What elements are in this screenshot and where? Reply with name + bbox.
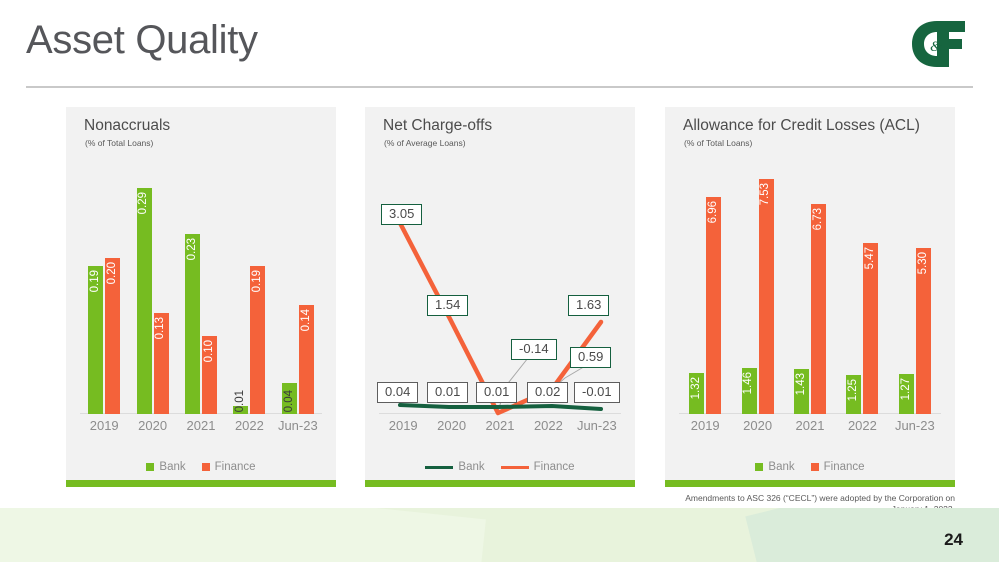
chart-panel-nonaccruals: Nonaccruals (% of Total Loans) 0.19 0.20… [66, 107, 336, 487]
bar-groups-acl: 1.32 6.96 1.46 7.53 1.43 6.73 [679, 164, 941, 414]
chart-title-acl: Allowance for Credit Losses (ACL) [683, 117, 920, 135]
bar-finance: 6.73 [811, 204, 826, 414]
chart-panel-acl: Allowance for Credit Losses (ACL) (% of … [665, 107, 955, 487]
legend-label-finance: Finance [215, 461, 256, 473]
legend-item-finance: Finance [811, 461, 865, 473]
legend-swatch-finance-icon [811, 463, 819, 471]
bar-finance: 0.13 [154, 313, 169, 415]
bar-value: 0.23 [187, 234, 199, 260]
bar-bank: 1.46 [742, 368, 757, 414]
legend-item-bank: Bank [755, 461, 794, 473]
bar-value: 5.30 [918, 248, 930, 274]
x-tick-label: Jun-23 [889, 418, 941, 440]
bar-value: 0.19 [252, 266, 264, 292]
header-divider [26, 86, 973, 88]
x-axis-labels-nonaccruals: 2019 2020 2021 2022 Jun-23 [80, 418, 322, 440]
x-tick-label: 2022 [524, 418, 572, 440]
data-label-finance-2022: 0.59 [570, 347, 611, 368]
legend-nonaccruals: Bank Finance [66, 461, 336, 473]
panel-accent-bar [365, 480, 635, 487]
legend-label-bank: Bank [458, 461, 484, 473]
bar-value: 0.29 [138, 188, 150, 214]
x-axis-labels-net-charge-offs: 2019 2020 2021 2022 Jun-23 [379, 418, 621, 440]
bar-value: 0.10 [204, 336, 216, 362]
legend-item-finance: Finance [202, 461, 256, 473]
chart-title-net-charge-offs: Net Charge-offs [383, 117, 492, 135]
panel-accent-bar [665, 480, 955, 487]
bar-value: 1.32 [691, 373, 703, 399]
legend-line-bank-icon [425, 466, 453, 469]
legend-swatch-bank-icon [755, 463, 763, 471]
bar-value: 0.13 [155, 313, 167, 339]
legend-label-finance: Finance [824, 461, 865, 473]
legend-label-bank: Bank [768, 461, 794, 473]
plot-area-net-charge-offs: 3.05 1.54 -0.14 0.59 1.63 0.04 0.01 0.01… [365, 162, 635, 462]
bar-value: 0.04 [284, 386, 296, 412]
x-tick-label: 2021 [784, 418, 836, 440]
x-tick-label: 2019 [379, 418, 427, 440]
cf-logo: & [907, 18, 969, 70]
bar-value: 1.27 [901, 374, 913, 400]
data-label-finance-jun23: 1.63 [568, 295, 609, 316]
bar-bank: 0.29 [137, 188, 152, 415]
bar-value: 6.96 [708, 197, 720, 223]
data-label-finance-2020: 1.54 [427, 295, 468, 316]
bar-finance: 0.10 [202, 336, 217, 414]
x-tick-label: 2021 [476, 418, 524, 440]
bar-group: 1.25 5.47 [836, 164, 888, 414]
footer-wedge-left [0, 508, 486, 562]
bar-value: 7.53 [760, 179, 772, 205]
bar-bank: 0.01 [233, 406, 248, 414]
x-tick-label: Jun-23 [274, 418, 322, 440]
legend-swatch-bank-icon [146, 463, 154, 471]
bar-value: 6.73 [813, 204, 825, 230]
legend-swatch-finance-icon [202, 463, 210, 471]
chart-subtitle-acl: (% of Total Loans) [684, 138, 752, 148]
legend-acl: Bank Finance [665, 461, 955, 473]
legend-item-finance: Finance [501, 461, 575, 473]
legend-item-bank: Bank [425, 461, 484, 473]
bar-group: 1.32 6.96 [679, 164, 731, 414]
x-tick-label: 2022 [836, 418, 888, 440]
x-tick-label: Jun-23 [573, 418, 621, 440]
bar-bank: 0.04 [282, 383, 297, 414]
x-tick-label: 2019 [679, 418, 731, 440]
bar-group: 1.46 7.53 [731, 164, 783, 414]
chart-panel-net-charge-offs: Net Charge-offs (% of Average Loans) 3.0… [365, 107, 635, 487]
bar-group: 1.43 6.73 [784, 164, 836, 414]
line-bank [400, 405, 601, 409]
x-tick-label: 2022 [225, 418, 273, 440]
bar-bank: 1.32 [689, 373, 704, 414]
bar-bank: 0.23 [185, 234, 200, 414]
bar-group: 0.04 0.14 [274, 164, 322, 414]
chart-subtitle-net-charge-offs: (% of Average Loans) [384, 138, 466, 148]
bar-value: 0.20 [107, 258, 119, 284]
chart-subtitle-nonaccruals: (% of Total Loans) [85, 138, 153, 148]
x-tick-label: 2020 [427, 418, 475, 440]
legend-label-bank: Bank [159, 461, 185, 473]
bar-finance: 5.47 [863, 243, 878, 414]
bar-bank: 1.25 [846, 375, 861, 414]
bar-finance: 0.19 [250, 266, 265, 415]
bar-finance: 7.53 [759, 179, 774, 414]
svg-text:&: & [930, 39, 942, 55]
x-axis-labels-acl: 2019 2020 2021 2022 Jun-23 [679, 418, 941, 440]
x-tick-label: 2020 [128, 418, 176, 440]
data-label-finance-2019: 3.05 [381, 204, 422, 225]
plot-area-acl: 1.32 6.96 1.46 7.53 1.43 6.73 [665, 162, 955, 462]
legend-net-charge-offs: Bank Finance [365, 461, 635, 473]
bar-group: 0.19 0.20 [80, 164, 128, 414]
bar-finance: 5.30 [916, 248, 931, 414]
x-tick-label: 2021 [177, 418, 225, 440]
bar-bank: 1.27 [899, 374, 914, 414]
bar-value: 1.25 [848, 375, 860, 401]
plot-area-nonaccruals: 0.19 0.20 0.29 0.13 0.23 0.10 [66, 162, 336, 462]
chart-title-nonaccruals: Nonaccruals [84, 117, 170, 135]
legend-line-finance-icon [501, 466, 529, 469]
x-tick-label: 2019 [80, 418, 128, 440]
bar-bank: 1.43 [794, 369, 809, 414]
bar-group: 0.23 0.10 [177, 164, 225, 414]
bar-finance: 0.20 [105, 258, 120, 414]
page-title: Asset Quality [26, 18, 258, 63]
bar-value: 0.01 [235, 386, 247, 412]
bar-finance: 0.14 [299, 305, 314, 415]
bar-group: 1.27 5.30 [889, 164, 941, 414]
data-label-bank-2020: 0.01 [427, 382, 468, 403]
data-label-bank-2021: 0.01 [476, 382, 517, 403]
bar-group: 0.01 0.19 [225, 164, 273, 414]
panel-accent-bar [66, 480, 336, 487]
data-label-bank-jun23: -0.01 [574, 382, 620, 403]
data-label-bank-2022: 0.02 [527, 382, 568, 403]
bar-value: 5.47 [865, 243, 877, 269]
bar-value: 1.43 [796, 369, 808, 395]
legend-label-finance: Finance [534, 461, 575, 473]
bar-value: 1.46 [743, 368, 755, 394]
bar-group: 0.29 0.13 [128, 164, 176, 414]
legend-item-bank: Bank [146, 461, 185, 473]
bar-value: 0.14 [301, 305, 313, 331]
bar-groups-nonaccruals: 0.19 0.20 0.29 0.13 0.23 0.10 [80, 164, 322, 414]
data-label-finance-2021: -0.14 [511, 339, 557, 360]
bar-bank: 0.19 [88, 266, 103, 415]
bar-value: 0.19 [90, 266, 102, 292]
page-number: 24 [944, 530, 963, 550]
x-tick-label: 2020 [731, 418, 783, 440]
bar-finance: 6.96 [706, 197, 721, 415]
footer-band [0, 508, 999, 562]
data-label-bank-2019: 0.04 [377, 382, 418, 403]
